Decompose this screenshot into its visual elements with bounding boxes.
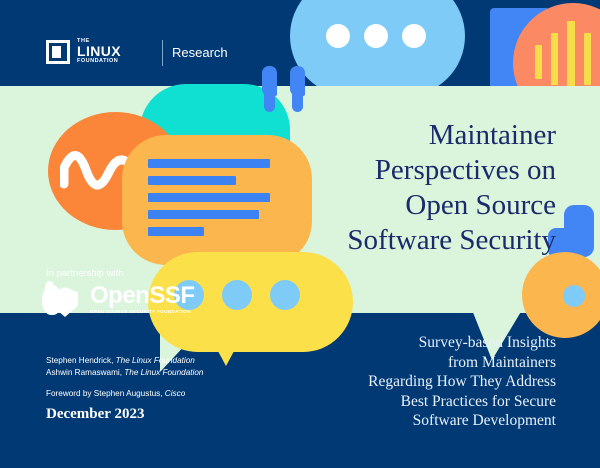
author-row: Stephen Hendrick, The Linux Foundation bbox=[46, 355, 203, 367]
subtitle-line-5: Software Development bbox=[226, 411, 556, 431]
title-line-4: Software Security bbox=[226, 223, 556, 258]
author-org: The Linux Foundation bbox=[124, 368, 203, 377]
author-name: Stephen Hendrick, bbox=[46, 356, 113, 365]
page-subtitle: Survey-based Insights from Maintainers R… bbox=[226, 333, 556, 431]
openssf-tagline: OPEN SOURCE SECURITY FOUNDATION bbox=[90, 309, 191, 314]
title-line-1: Maintainer bbox=[226, 118, 556, 153]
ellipsis-dot bbox=[326, 24, 350, 48]
linux-foundation-square-mark bbox=[46, 40, 70, 64]
waveform-bar bbox=[567, 21, 575, 93]
logo-research-label: Research bbox=[172, 45, 228, 60]
subtitle-line-4: Best Practices for Secure bbox=[226, 392, 556, 412]
subtitle-line-2: from Maintainers bbox=[226, 353, 556, 373]
logo-divider bbox=[162, 40, 163, 66]
title-line-3: Open Source bbox=[226, 188, 556, 223]
author-name: Ashwin Ramaswami, bbox=[46, 368, 122, 377]
amber-circle-decor bbox=[522, 252, 600, 338]
foreword-credit: Foreword by Stephen Augustus, Cisco bbox=[46, 388, 185, 400]
logo-linux: LINUX bbox=[77, 44, 121, 58]
publication-date: December 2023 bbox=[46, 406, 144, 423]
ellipsis-dot bbox=[364, 24, 388, 48]
subtitle-line-3: Regarding How They Address bbox=[226, 372, 556, 392]
quotation-mark-icon bbox=[290, 66, 320, 112]
author-org: The Linux Foundation bbox=[116, 356, 195, 365]
text-line bbox=[148, 227, 204, 236]
page-title: Maintainer Perspectives on Open Source S… bbox=[226, 118, 556, 258]
report-cover: THE LINUX FOUNDATION Research Maintainer… bbox=[0, 0, 600, 468]
text-line bbox=[148, 176, 236, 185]
foreword-label: Foreword by Stephen Augustus, bbox=[46, 389, 163, 398]
author-credits: Stephen Hendrick, The Linux Foundation A… bbox=[46, 355, 203, 378]
bubble-dot bbox=[222, 280, 252, 310]
subtitle-line-1: Survey-based Insights bbox=[226, 333, 556, 353]
ellipsis-dot bbox=[402, 24, 426, 48]
partnership-label: In partnership with bbox=[46, 268, 124, 279]
waveform-bar bbox=[584, 33, 591, 85]
quotation-mark-icon bbox=[262, 66, 292, 112]
author-row: Ashwin Ramaswami, The Linux Foundation bbox=[46, 367, 203, 379]
title-line-2: Perspectives on bbox=[226, 153, 556, 188]
bubble-dot bbox=[270, 280, 300, 310]
foreword-org: Cisco bbox=[165, 389, 185, 398]
logo-foundation: FOUNDATION bbox=[77, 58, 121, 65]
waveform-bar bbox=[535, 45, 542, 79]
openssf-name: OpenSSF bbox=[90, 283, 195, 309]
waveform-bar bbox=[551, 33, 558, 85]
amber-circle-dot bbox=[563, 285, 585, 307]
